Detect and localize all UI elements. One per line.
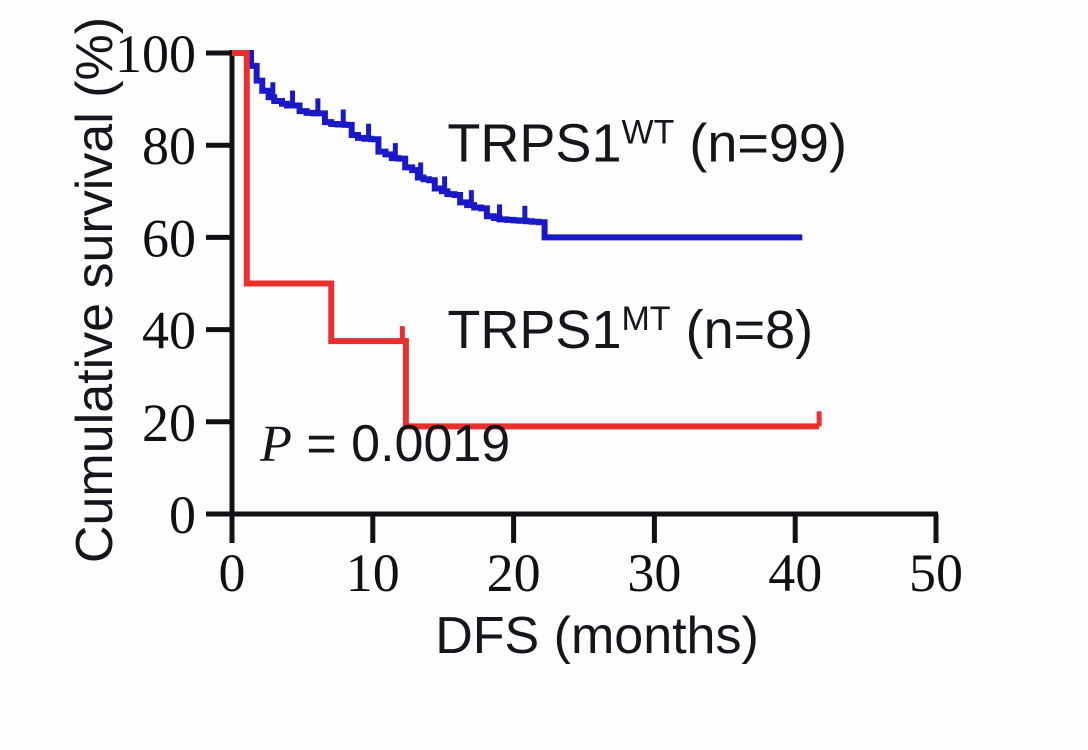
x-tick-label-0: 0	[219, 543, 246, 603]
series-label-trps1-mt: TRPS1MT (n=8)	[447, 300, 813, 360]
series-label-superscript: MT	[621, 300, 670, 338]
p-value-number: = 0.0019	[292, 415, 510, 473]
x-axis-ticks: 01020304050	[219, 514, 964, 603]
series-label-count: (n=8)	[671, 300, 814, 360]
series-label-base: TRPS1	[447, 113, 621, 173]
series-label-base: TRPS1	[447, 300, 621, 360]
y-axis-ticks: 020406080100	[115, 24, 232, 545]
y-tick-label-60: 60	[142, 208, 196, 268]
x-axis-title: DFS (months)	[435, 607, 759, 665]
p-value-annotation: P = 0.0019	[259, 415, 510, 473]
x-tick-label-30: 30	[627, 543, 681, 603]
series-label-count: (n=99)	[674, 113, 847, 173]
y-tick-label-100: 100	[115, 24, 196, 84]
x-tick-label-40: 40	[768, 543, 822, 603]
p-value-symbol: P	[259, 416, 292, 473]
y-tick-label-40: 40	[142, 301, 196, 361]
y-tick-label-20: 20	[142, 393, 196, 453]
p-value-text: P = 0.0019	[259, 415, 510, 473]
y-tick-label-80: 80	[142, 116, 196, 176]
y-tick-label-0: 0	[169, 485, 196, 545]
x-tick-label-50: 50	[909, 543, 963, 603]
series-label-trps1-wt: TRPS1WT (n=99)	[447, 113, 847, 173]
survival-plot-canvas: 020406080100 01020304050 TRPS1WT (n=99)T…	[0, 0, 1088, 750]
series-label-superscript: WT	[621, 113, 674, 151]
kaplan-meier-figure: 020406080100 01020304050 TRPS1WT (n=99)T…	[0, 0, 1088, 750]
y-axis-title: Cumulative survival (%)	[66, 17, 124, 563]
x-tick-label-20: 20	[487, 543, 541, 603]
x-tick-label-10: 10	[346, 543, 400, 603]
